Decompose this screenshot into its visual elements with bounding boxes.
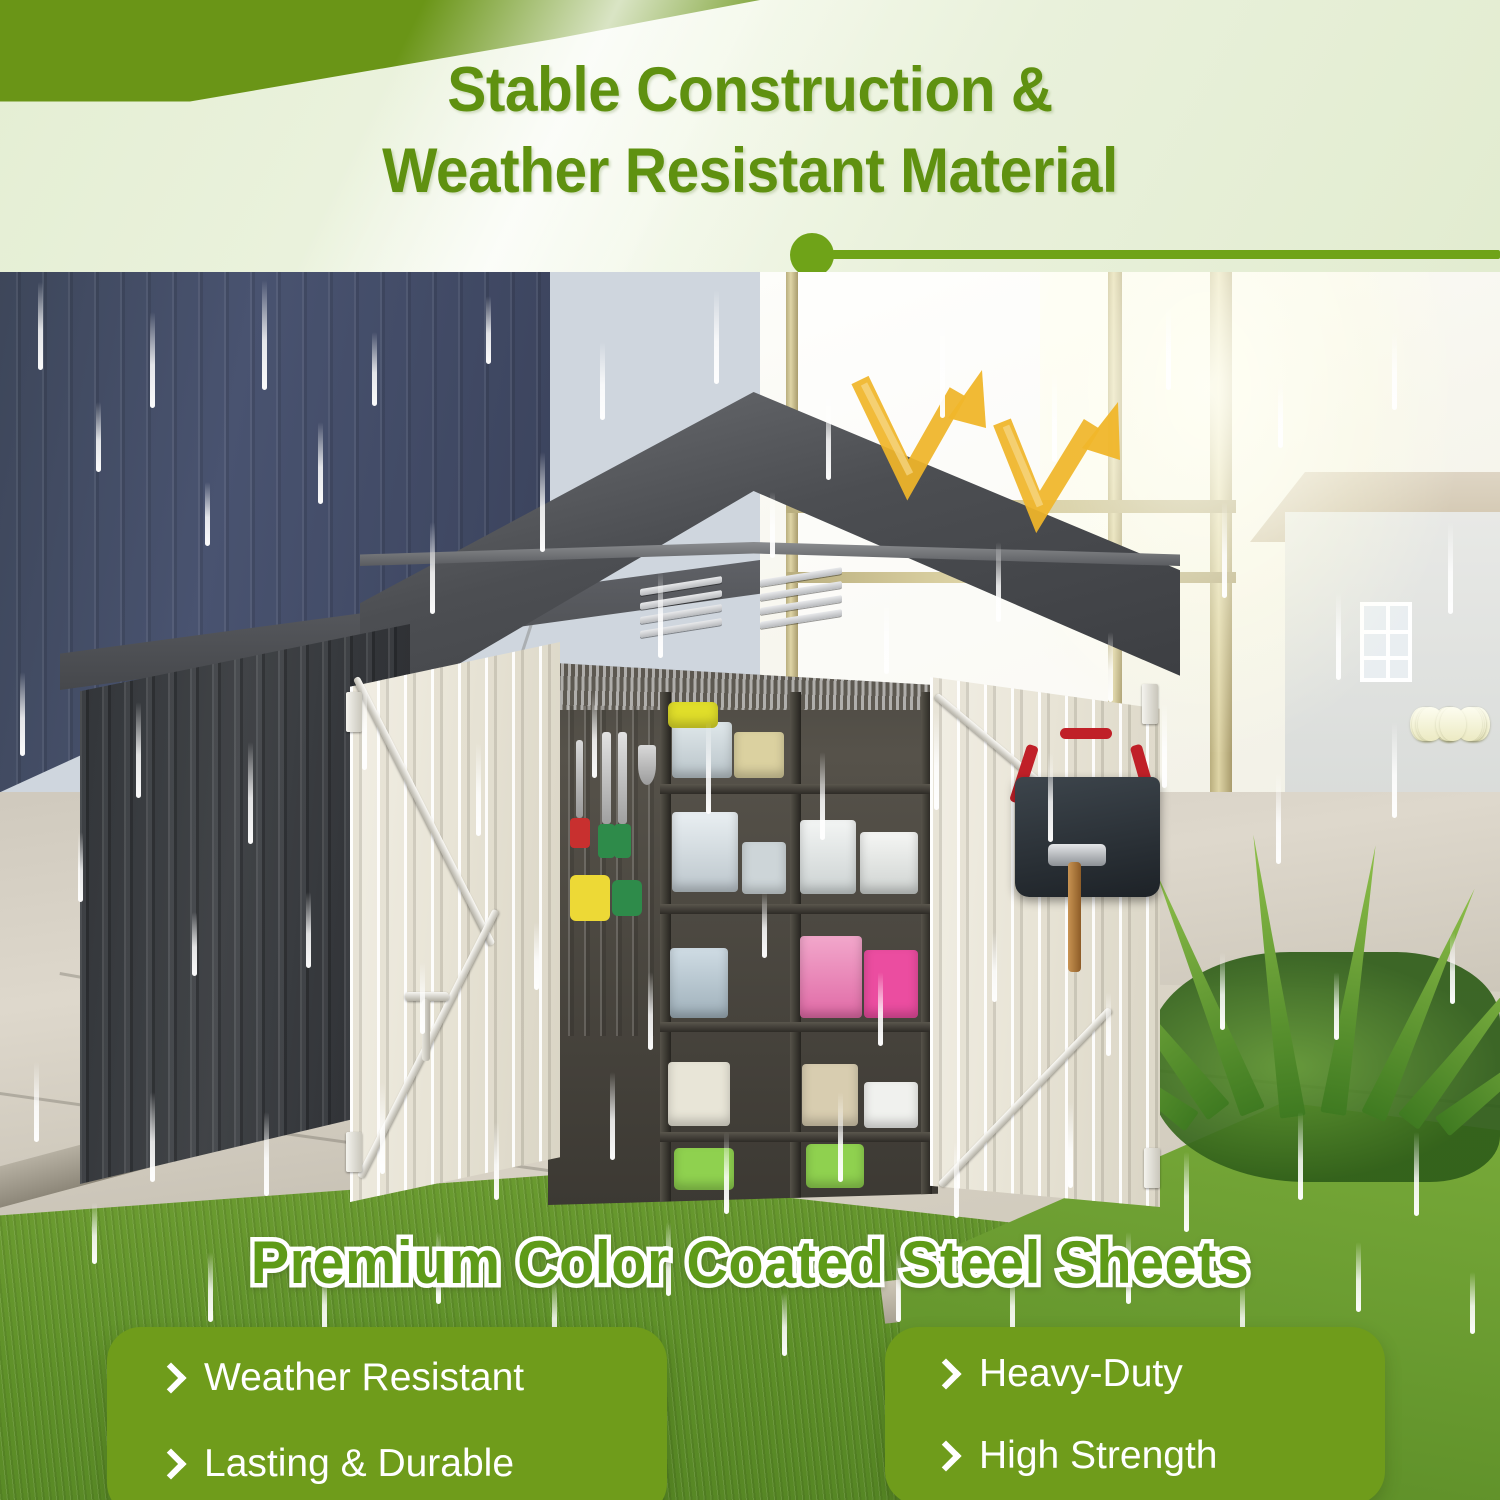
feature-label: Weather Resistant [204, 1356, 524, 1400]
feature-item: Lasting & Durable [160, 1442, 514, 1486]
storage-bin [860, 832, 918, 894]
header-banner: Stable Construction & Weather Resistant … [0, 0, 1500, 272]
feature-item: Heavy-Duty [935, 1352, 1183, 1396]
storage-bin [670, 948, 728, 1018]
storage-bin [800, 820, 856, 894]
hanging-shears [602, 732, 611, 824]
chevron-right-icon [930, 1440, 961, 1471]
storage-bin-green [674, 1148, 734, 1190]
feature-item: High Strength [935, 1434, 1217, 1478]
banner-headline: Premium Color Coated Steel Sheets [30, 1228, 1470, 1297]
yucca-flower-stalk [1410, 707, 1496, 1037]
feature-label: Lasting & Durable [204, 1442, 514, 1486]
background-house-window [1360, 602, 1412, 682]
feature-label: Heavy-Duty [979, 1352, 1183, 1396]
feature-label: High Strength [979, 1434, 1217, 1478]
door-hinge [346, 692, 362, 732]
product-photo [0, 272, 1500, 1500]
shed-interior [548, 640, 938, 1205]
door-hinge [346, 1132, 362, 1172]
tool-bag [1015, 777, 1160, 897]
door-hinge [1142, 684, 1158, 724]
tool-handle-green [614, 824, 631, 858]
storage-tray [864, 1082, 918, 1128]
storage-bin [742, 842, 786, 894]
hanging-trowel [638, 745, 656, 785]
hanging-spray-nozzle [612, 880, 642, 916]
storage-box [734, 732, 784, 778]
vent-group [760, 566, 850, 634]
storage-shed [60, 392, 1170, 1212]
storage-bin-magenta [864, 950, 918, 1018]
tool-bag-handle [1060, 728, 1112, 739]
storage-bag-yellow [668, 702, 718, 728]
chevron-right-icon [155, 1362, 186, 1393]
feature-item: Weather Resistant [160, 1356, 524, 1400]
hammer-handle [1068, 862, 1081, 972]
hanging-shears [618, 732, 627, 824]
header-rule-line [832, 250, 1500, 259]
page-title-line2: Weather Resistant Material [53, 131, 1448, 212]
storage-bin-green [806, 1144, 864, 1188]
shed-door-right-ribs [930, 677, 1160, 1207]
page-title-line1: Stable Construction & [53, 50, 1448, 131]
storage-bin [672, 812, 738, 892]
product-infographic: Stable Construction & Weather Resistant … [0, 0, 1500, 1500]
cardboard-box [668, 1062, 730, 1126]
door-handle-stem [422, 999, 430, 1061]
storage-bin [672, 722, 732, 778]
header-rule-dot [790, 233, 834, 272]
storage-bin-pink [800, 936, 862, 1018]
hanging-tool [576, 740, 583, 818]
cardboard-box [802, 1064, 858, 1126]
tool-handle-red [570, 818, 590, 848]
storage-shelving [660, 692, 932, 1202]
chevron-right-icon [930, 1358, 961, 1389]
door-hinge [1144, 1148, 1160, 1188]
page-title: Stable Construction & Weather Resistant … [53, 50, 1448, 213]
shed-roof-vents [640, 551, 880, 649]
tool-handle-green [598, 824, 615, 858]
chevron-right-icon [155, 1448, 186, 1479]
work-gloves [570, 875, 610, 921]
